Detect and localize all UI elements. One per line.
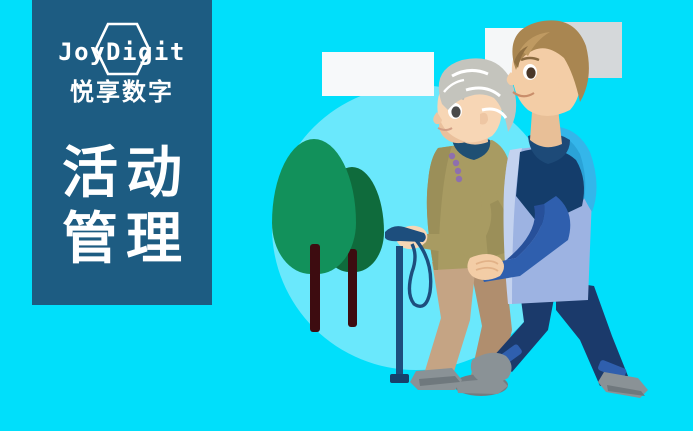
man-pupil <box>526 67 535 78</box>
logo-wordmark: JoyDigit <box>58 38 186 66</box>
cane-tip <box>390 374 409 383</box>
man-back-shoe <box>471 353 512 384</box>
poster-canvas: JoyDigit 悦享数字 活动 管理 <box>0 0 693 431</box>
page-title: 活动 管理 <box>32 140 212 272</box>
logo-company-name-cn: 悦享数字 <box>32 72 212 107</box>
brand-panel: JoyDigit 悦享数字 活动 管理 <box>32 0 212 305</box>
cane-wrist-loop <box>409 240 430 306</box>
walking-cane <box>385 226 431 383</box>
page-title-line-2: 管理 <box>32 206 212 272</box>
page-title-line-1: 活动 <box>32 140 212 206</box>
figure-elderly-woman <box>396 58 517 396</box>
elderly-pupil <box>451 106 460 117</box>
logo-block: JoyDigit 悦享数字 <box>32 22 212 107</box>
cane-shaft <box>396 246 403 380</box>
